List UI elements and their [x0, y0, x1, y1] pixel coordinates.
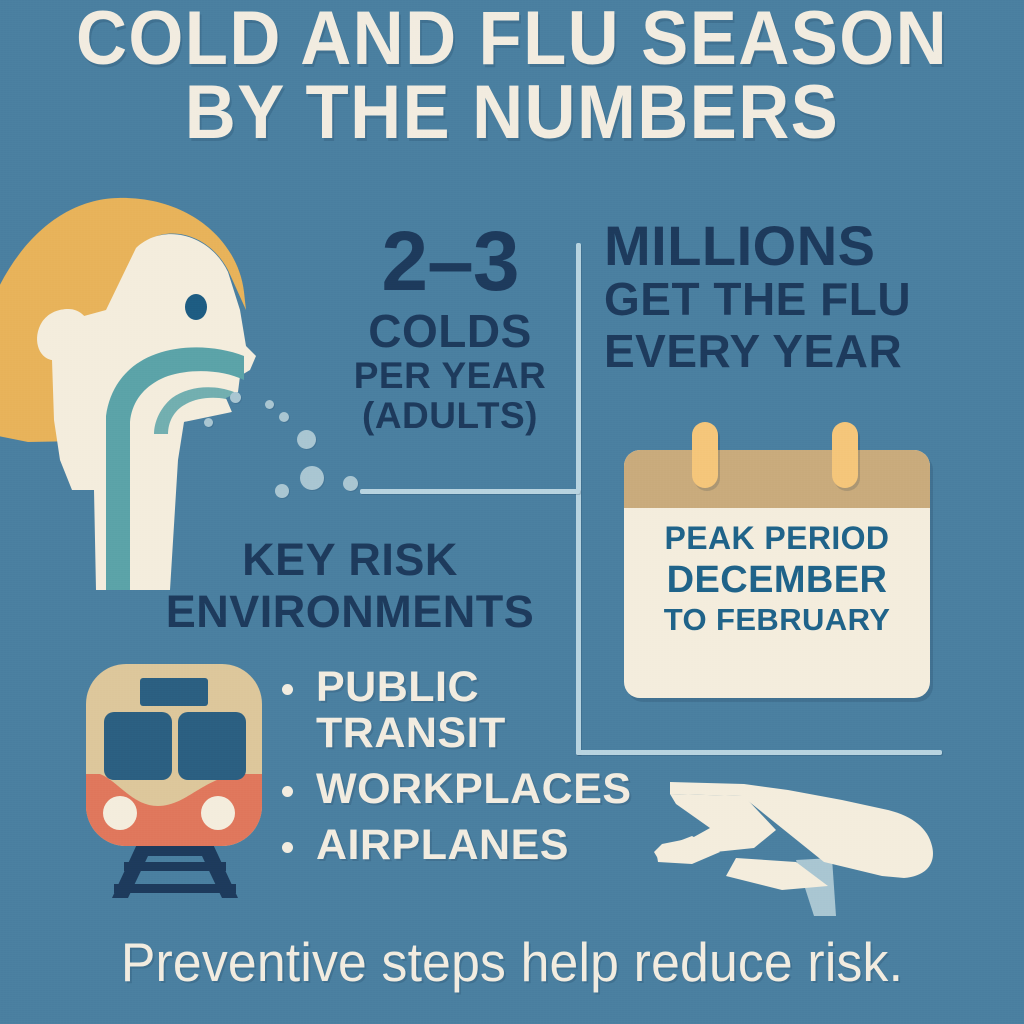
stat-colds-label-2: PER YEAR: [336, 356, 564, 397]
head-profile-icon: [0, 160, 318, 590]
risk-environment-list: PUBLIC TRANSIT WORKPLACES AIRPLANES: [276, 664, 676, 878]
droplet: [279, 412, 289, 422]
droplet: [297, 430, 316, 449]
title-line-1: COLD AND FLU SEASON: [36, 2, 988, 76]
stat-colds-value: 2–3: [336, 222, 564, 302]
calendar-text: PEAK PERIOD DECEMBER TO FEBRUARY: [624, 520, 930, 638]
bullet-icon: [282, 842, 293, 853]
calendar-line-1: PEAK PERIOD: [624, 520, 930, 558]
droplet: [230, 392, 241, 403]
risk-heading: KEY RISK ENVIRONMENTS: [130, 534, 570, 638]
eye-shape: [185, 294, 207, 320]
divider-horizontal-left: [360, 489, 580, 494]
stat-flu-label-3: EVERY YEAR: [604, 326, 972, 378]
calendar-ring-right: [832, 422, 858, 488]
risk-item-label: WORKPLACES: [316, 766, 676, 812]
track-rail-lower: [114, 884, 236, 893]
track-rail-upper: [124, 862, 226, 871]
droplet: [265, 400, 274, 409]
calendar-header-band: [624, 450, 930, 508]
droplet: [275, 484, 289, 498]
stat-colds-label-1: COLDS: [336, 308, 564, 356]
bullet-icon: [282, 786, 293, 797]
risk-item-label: PUBLIC TRANSIT: [316, 664, 676, 756]
airplane-icon: [636, 766, 944, 926]
calendar-line-3: TO FEBRUARY: [624, 602, 930, 639]
droplet: [300, 466, 324, 490]
train-sign: [140, 678, 208, 706]
stat-colds-label-3: (ADULTS): [336, 396, 564, 437]
calendar-ring-left: [692, 422, 718, 488]
infographic-poster: COLD AND FLU SEASON BY THE NUMBERS 2–3 C…: [0, 0, 1024, 1024]
droplet: [204, 418, 213, 427]
risk-heading-line-1: KEY RISK: [130, 534, 570, 586]
title-line-2: BY THE NUMBERS: [36, 76, 988, 150]
train-headlight-right: [201, 796, 235, 830]
page-title: COLD AND FLU SEASON BY THE NUMBERS: [36, 2, 988, 151]
stat-flu-cases: MILLIONS GET THE FLU EVERY YEAR: [604, 218, 972, 377]
calendar-icon: PEAK PERIOD DECEMBER TO FEBRUARY: [624, 450, 930, 698]
bullet-icon: [282, 684, 293, 695]
list-item: WORKPLACES: [276, 766, 676, 812]
stat-flu-label-2: GET THE FLU: [604, 274, 972, 326]
train-headlight-left: [103, 796, 137, 830]
stat-colds-per-year: 2–3 COLDS PER YEAR (ADULTS): [336, 222, 564, 437]
calendar-line-2: DECEMBER: [624, 558, 930, 602]
train-window-right: [178, 712, 246, 780]
risk-heading-line-2: ENVIRONMENTS: [130, 586, 570, 638]
train-icon: [66, 656, 282, 900]
droplet: [343, 476, 358, 491]
risk-item-label: AIRPLANES: [316, 822, 676, 868]
train-window-left: [104, 712, 172, 780]
list-item: AIRPLANES: [276, 822, 676, 868]
list-item: PUBLIC TRANSIT: [276, 664, 676, 756]
stat-flu-label-1: MILLIONS: [604, 218, 972, 274]
footer-caption: Preventive steps help reduce risk.: [31, 930, 994, 994]
